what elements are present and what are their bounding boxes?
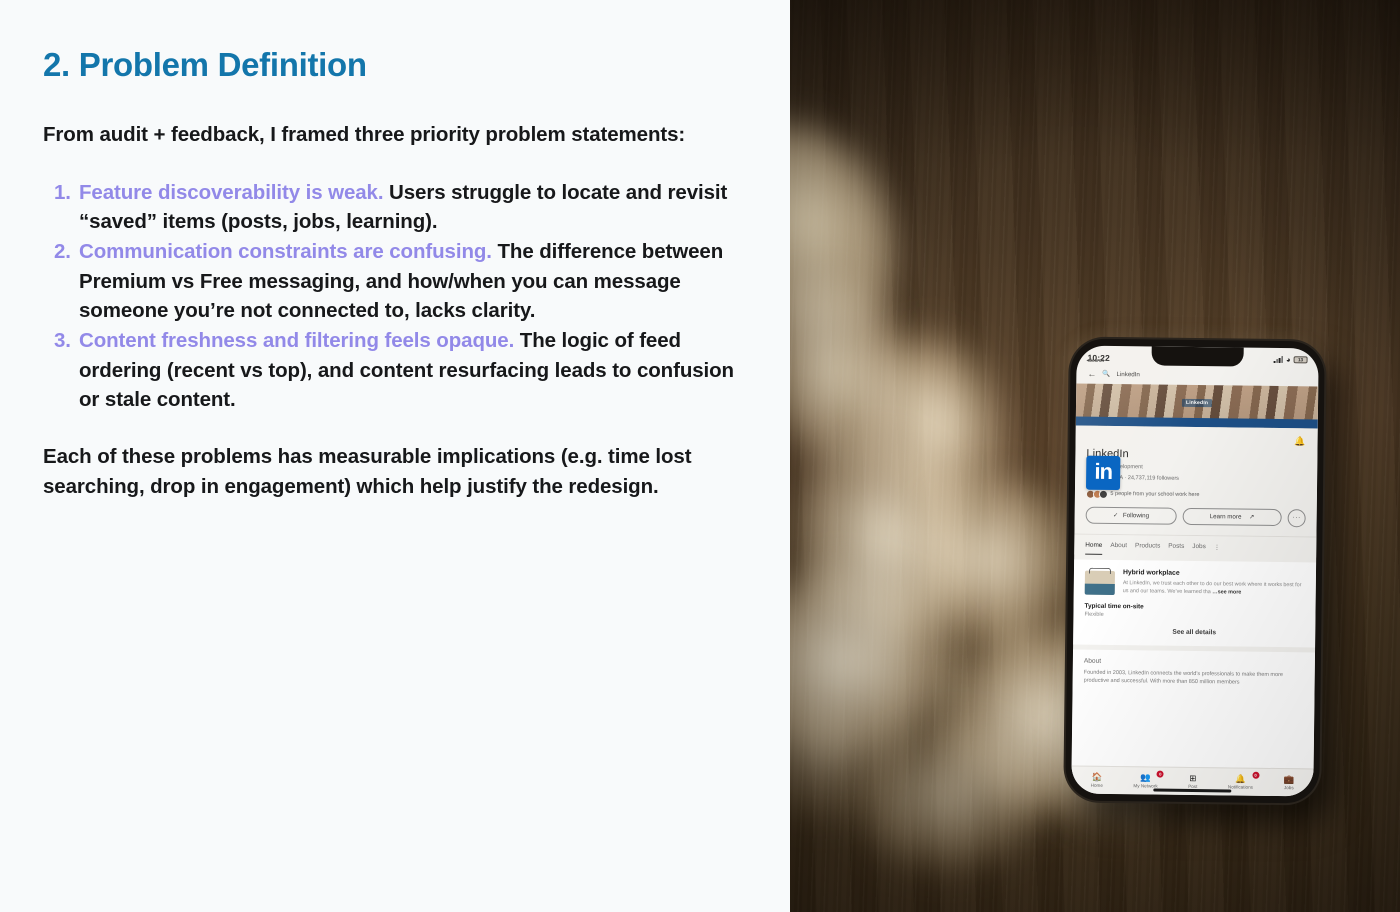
cellular-signal-icon bbox=[1274, 356, 1283, 363]
tab-posts[interactable]: Posts bbox=[1168, 543, 1184, 555]
nav-item-home[interactable]: 🏠 Home bbox=[1091, 773, 1103, 788]
slide-content-panel: 2. Problem Definition From audit + feedb… bbox=[0, 0, 790, 912]
about-title: About bbox=[1084, 657, 1304, 667]
home-indicator bbox=[1153, 789, 1231, 793]
list-item-lead: Content freshness and filtering feels op… bbox=[79, 329, 514, 352]
see-all-details-button[interactable]: See all details bbox=[1084, 627, 1304, 637]
nav-label: Notifications bbox=[1228, 784, 1253, 789]
notification-bell-icon[interactable]: 🔔 bbox=[1294, 436, 1305, 447]
about-card: About Founded in 2003, LinkedIn connects… bbox=[1072, 649, 1315, 768]
tab-products[interactable]: Products bbox=[1135, 543, 1160, 555]
list-item-lead: Communication constraints are confusing. bbox=[79, 240, 492, 263]
closing-paragraph: Each of these problems has measurable im… bbox=[43, 442, 750, 501]
list-item-number: 1. bbox=[43, 178, 79, 207]
post-icon: ⊞ bbox=[1189, 774, 1196, 783]
battery-level: 13 bbox=[1298, 357, 1303, 362]
company-profile-header: in 🔔 LinkedIn Software Development Sunny… bbox=[1074, 426, 1317, 537]
bottom-navigation: 🏠 Home 👥 0 My Network ⊞ Post 🔔 0 Notific… bbox=[1071, 766, 1313, 797]
nav-item-post[interactable]: ⊞ Post bbox=[1188, 774, 1197, 789]
hybrid-workplace-body: At LinkedIn, we trust each other to do o… bbox=[1123, 579, 1305, 598]
nav-item-jobs[interactable]: 💼 Jobs bbox=[1283, 775, 1294, 790]
phone-notch bbox=[1152, 346, 1244, 366]
home-icon: 🏠 bbox=[1092, 773, 1103, 782]
page-title: 2. Problem Definition bbox=[43, 46, 750, 84]
phone-screen: 10:22 ◂Search ◕ 13 ← 🔍 LinkedIn LinkedIn… bbox=[1071, 346, 1318, 797]
list-item-body: Content freshness and filtering feels op… bbox=[79, 326, 750, 414]
external-link-icon: ↗ bbox=[1249, 514, 1254, 521]
company-cover-image: LinkedIn bbox=[1076, 384, 1318, 429]
following-button[interactable]: ✓ Following bbox=[1086, 507, 1177, 525]
onsite-value: Flexible bbox=[1084, 611, 1304, 620]
status-indicators: ◕ 13 bbox=[1274, 356, 1308, 364]
list-item-number: 3. bbox=[43, 326, 79, 355]
smartphone-device: 10:22 ◂Search ◕ 13 ← 🔍 LinkedIn LinkedIn… bbox=[1065, 338, 1325, 803]
wifi-icon: ◕ bbox=[1286, 356, 1291, 364]
photo-panel: 10:22 ◂Search ◕ 13 ← 🔍 LinkedIn LinkedIn… bbox=[790, 0, 1400, 912]
tab-overflow-icon[interactable]: ⋮ bbox=[1214, 543, 1221, 556]
list-item-number: 2. bbox=[43, 237, 79, 266]
hybrid-workplace-row: Hybrid workplace At LinkedIn, we trust e… bbox=[1085, 568, 1305, 597]
network-icon: 👥 bbox=[1140, 773, 1151, 782]
school-connections-label: 5 people from your school work here bbox=[1110, 491, 1199, 498]
tab-about[interactable]: About bbox=[1110, 542, 1127, 554]
back-to-app-link[interactable]: ◂Search bbox=[1087, 358, 1105, 364]
badge-notifications: 0 bbox=[1252, 772, 1259, 779]
cover-logo-label: LinkedIn bbox=[1182, 399, 1212, 407]
bell-icon: 🔔 bbox=[1235, 775, 1246, 784]
avatar-group bbox=[1086, 489, 1106, 498]
hybrid-workplace-title: Hybrid workplace bbox=[1123, 569, 1305, 578]
tab-home[interactable]: Home bbox=[1085, 541, 1102, 554]
search-icon: 🔍 bbox=[1102, 370, 1110, 378]
nav-item-notifications[interactable]: 🔔 0 Notifications bbox=[1228, 774, 1253, 789]
battery-icon: 13 bbox=[1294, 356, 1308, 364]
nav-label: Jobs bbox=[1284, 785, 1294, 790]
hybrid-workplace-text: Hybrid workplace At LinkedIn, we trust e… bbox=[1123, 569, 1305, 598]
badge-my-network: 0 bbox=[1157, 771, 1164, 778]
nav-label: Post bbox=[1188, 784, 1197, 789]
hybrid-workplace-card: Hybrid workplace At LinkedIn, we trust e… bbox=[1073, 559, 1316, 647]
search-input[interactable]: LinkedIn bbox=[1116, 371, 1139, 378]
list-item-body: Feature discoverability is weak. Users s… bbox=[79, 178, 750, 237]
about-body: Founded in 2003, LinkedIn connects the w… bbox=[1084, 668, 1304, 688]
profile-action-buttons: ✓ Following Learn more ↗ ··· bbox=[1085, 506, 1305, 536]
back-arrow-icon[interactable]: ← bbox=[1087, 369, 1096, 379]
onsite-label: Typical time on-site bbox=[1085, 602, 1305, 612]
nav-label: Home bbox=[1091, 783, 1103, 788]
profile-tabs: Home About Products Posts Jobs ⋮ bbox=[1074, 533, 1316, 557]
list-item-lead: Feature discoverability is weak. bbox=[79, 181, 383, 204]
list-item: 2. Communication constraints are confusi… bbox=[43, 237, 750, 325]
nav-item-my-network[interactable]: 👥 0 My Network bbox=[1133, 773, 1157, 788]
briefcase-icon bbox=[1085, 570, 1115, 594]
following-label: Following bbox=[1123, 512, 1149, 519]
learn-more-button[interactable]: Learn more ↗ bbox=[1182, 508, 1281, 526]
list-item: 1. Feature discoverability is weak. User… bbox=[43, 178, 750, 237]
list-item-body: Communication constraints are confusing.… bbox=[79, 237, 750, 325]
back-to-app-label: Search bbox=[1089, 358, 1104, 363]
intro-paragraph: From audit + feedback, I framed three pr… bbox=[43, 120, 693, 150]
list-item: 3. Content freshness and filtering feels… bbox=[43, 326, 750, 414]
more-options-button[interactable]: ··· bbox=[1288, 509, 1306, 527]
linkedin-logo-icon: in bbox=[1086, 456, 1120, 490]
problem-statement-list: 1. Feature discoverability is weak. User… bbox=[43, 178, 750, 415]
tab-jobs[interactable]: Jobs bbox=[1192, 543, 1206, 555]
nav-label: My Network bbox=[1133, 783, 1157, 788]
see-more-link[interactable]: …see more bbox=[1212, 589, 1241, 595]
school-connections[interactable]: 5 people from your school work here bbox=[1086, 489, 1306, 501]
learn-more-label: Learn more bbox=[1210, 513, 1242, 520]
jobs-icon: 💼 bbox=[1284, 775, 1295, 784]
